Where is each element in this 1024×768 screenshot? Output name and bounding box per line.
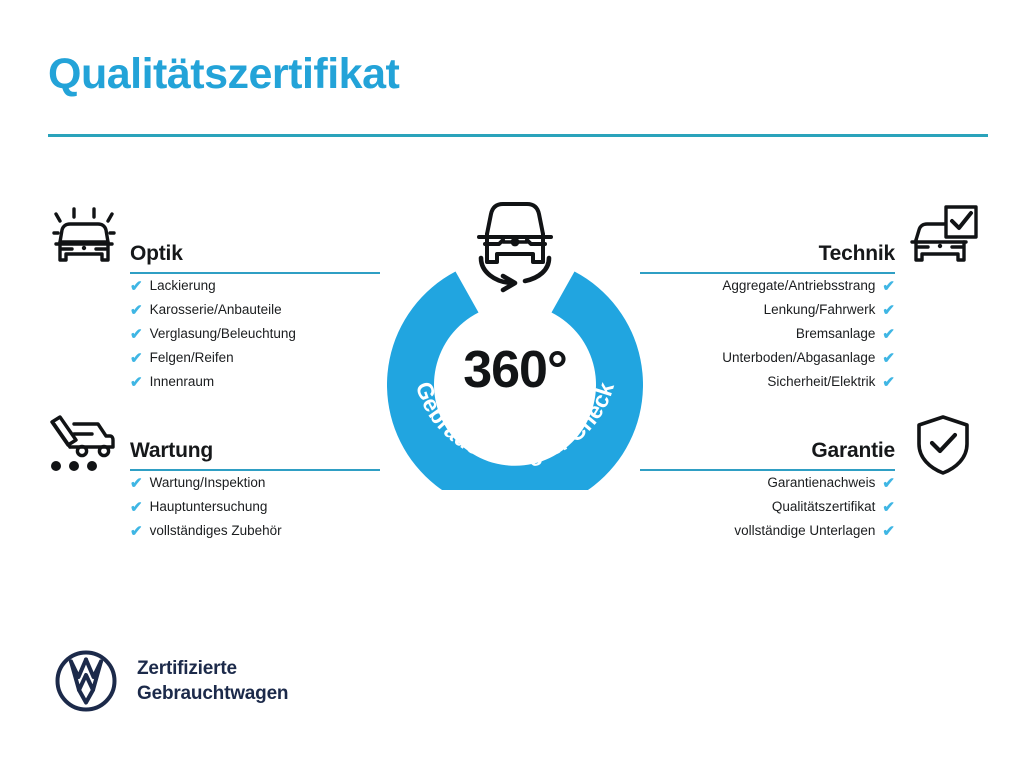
section-wartung-header: Wartung	[130, 427, 380, 471]
footer-line-2: Gebrauchtwagen	[137, 681, 288, 706]
section-optik: Optik ✔Lackierung ✔Karosserie/Anbauteile…	[130, 230, 380, 394]
360-check-badge: Gebrauchtwagen-Check 360°	[375, 192, 655, 492]
check-icon: ✔	[882, 351, 895, 366]
car-rotate-360-icon	[463, 192, 567, 300]
list-item-label: Garantienachweis	[767, 476, 875, 490]
section-optik-header: Optik	[130, 230, 380, 274]
section-garantie: Garantie ✔Garantienachweis ✔Qualitätszer…	[640, 427, 895, 543]
vw-logo-icon	[55, 650, 117, 712]
list-item: ✔Garantienachweis	[640, 471, 895, 495]
list-item-label: Karosserie/Anbauteile	[150, 303, 282, 317]
section-technik-list: ✔Aggregate/Antriebsstrang ✔Lenkung/Fahrw…	[640, 274, 895, 394]
list-item: ✔vollständiges Zubehör	[130, 519, 380, 543]
section-wartung-list: ✔Wartung/Inspektion ✔Hauptuntersuchung ✔…	[130, 471, 380, 543]
check-icon: ✔	[882, 476, 895, 491]
list-item-label: vollständige Unterlagen	[734, 524, 875, 538]
section-wartung-divider	[130, 469, 380, 471]
section-wartung-title: Wartung	[130, 439, 213, 463]
service-record-icon	[44, 414, 116, 481]
section-garantie-header: Garantie	[640, 427, 895, 471]
section-technik-title: Technik	[819, 242, 895, 266]
check-icon: ✔	[882, 500, 895, 515]
list-item-label: Hauptuntersuchung	[150, 500, 268, 514]
car-shine-icon	[44, 204, 116, 275]
section-garantie-divider	[640, 469, 895, 471]
list-item-label: Innenraum	[150, 375, 215, 389]
check-icon: ✔	[130, 327, 143, 342]
check-icon: ✔	[882, 303, 895, 318]
check-icon: ✔	[130, 303, 143, 318]
check-icon: ✔	[130, 524, 143, 539]
list-item: ✔Qualitätszertifikat	[640, 495, 895, 519]
list-item-label: Aggregate/Antriebsstrang	[722, 279, 875, 293]
section-optik-divider	[130, 272, 380, 274]
list-item-label: Verglasung/Beleuchtung	[150, 327, 296, 341]
list-item-label: Lenkung/Fahrwerk	[764, 303, 876, 317]
list-item: ✔Lenkung/Fahrwerk	[640, 298, 895, 322]
title-divider	[48, 134, 988, 137]
check-icon: ✔	[130, 351, 143, 366]
list-item: ✔Wartung/Inspektion	[130, 471, 380, 495]
check-icon: ✔	[130, 476, 143, 491]
list-item: ✔Bremsanlage	[640, 322, 895, 346]
section-optik-title: Optik	[130, 242, 183, 266]
section-garantie-list: ✔Garantienachweis ✔Qualitätszertifikat ✔…	[640, 471, 895, 543]
footer-line-1: Zertifizierte	[137, 656, 288, 681]
section-wartung: Wartung ✔Wartung/Inspektion ✔Hauptunters…	[130, 427, 380, 543]
section-optik-list: ✔Lackierung ✔Karosserie/Anbauteile ✔Verg…	[130, 274, 380, 394]
section-technik: Technik ✔Aggregate/Antriebsstrang ✔Lenku…	[640, 230, 895, 394]
list-item: ✔Felgen/Reifen	[130, 346, 380, 370]
section-garantie-title: Garantie	[811, 439, 895, 463]
list-item-label: Unterboden/Abgasanlage	[722, 351, 875, 365]
list-item: ✔Verglasung/Beleuchtung	[130, 322, 380, 346]
list-item: ✔Lackierung	[130, 274, 380, 298]
list-item-label: Lackierung	[150, 279, 216, 293]
list-item: ✔Karosserie/Anbauteile	[130, 298, 380, 322]
list-item-label: vollständiges Zubehör	[150, 524, 282, 538]
list-item-label: Sicherheit/Elektrik	[767, 375, 875, 389]
check-icon: ✔	[130, 375, 143, 390]
footer-brand: Zertifizierte Gebrauchtwagen	[55, 650, 288, 712]
check-icon: ✔	[882, 375, 895, 390]
list-item-label: Wartung/Inspektion	[150, 476, 266, 490]
list-item: ✔Hauptuntersuchung	[130, 495, 380, 519]
list-item-label: Bremsanlage	[796, 327, 876, 341]
check-icon: ✔	[130, 279, 143, 294]
list-item: ✔Aggregate/Antriebsstrang	[640, 274, 895, 298]
check-icon: ✔	[882, 327, 895, 342]
check-icon: ✔	[882, 279, 895, 294]
list-item: ✔Innenraum	[130, 370, 380, 394]
car-checkbox-icon	[908, 204, 980, 275]
badge-center-label: 360°	[375, 340, 655, 400]
check-icon: ✔	[882, 524, 895, 539]
section-technik-divider	[640, 272, 895, 274]
list-item: ✔Unterboden/Abgasanlage	[640, 346, 895, 370]
list-item: ✔vollständige Unterlagen	[640, 519, 895, 543]
list-item: ✔Sicherheit/Elektrik	[640, 370, 895, 394]
list-item-label: Qualitätszertifikat	[772, 500, 876, 514]
section-technik-header: Technik	[640, 230, 895, 274]
footer-brand-text: Zertifizierte Gebrauchtwagen	[137, 656, 288, 706]
page-title: Qualitätszertifikat	[48, 52, 399, 97]
list-item-label: Felgen/Reifen	[150, 351, 234, 365]
quality-certificate-page: Qualitätszertifikat	[0, 0, 1024, 768]
check-icon: ✔	[130, 500, 143, 515]
shield-check-icon	[914, 414, 972, 481]
